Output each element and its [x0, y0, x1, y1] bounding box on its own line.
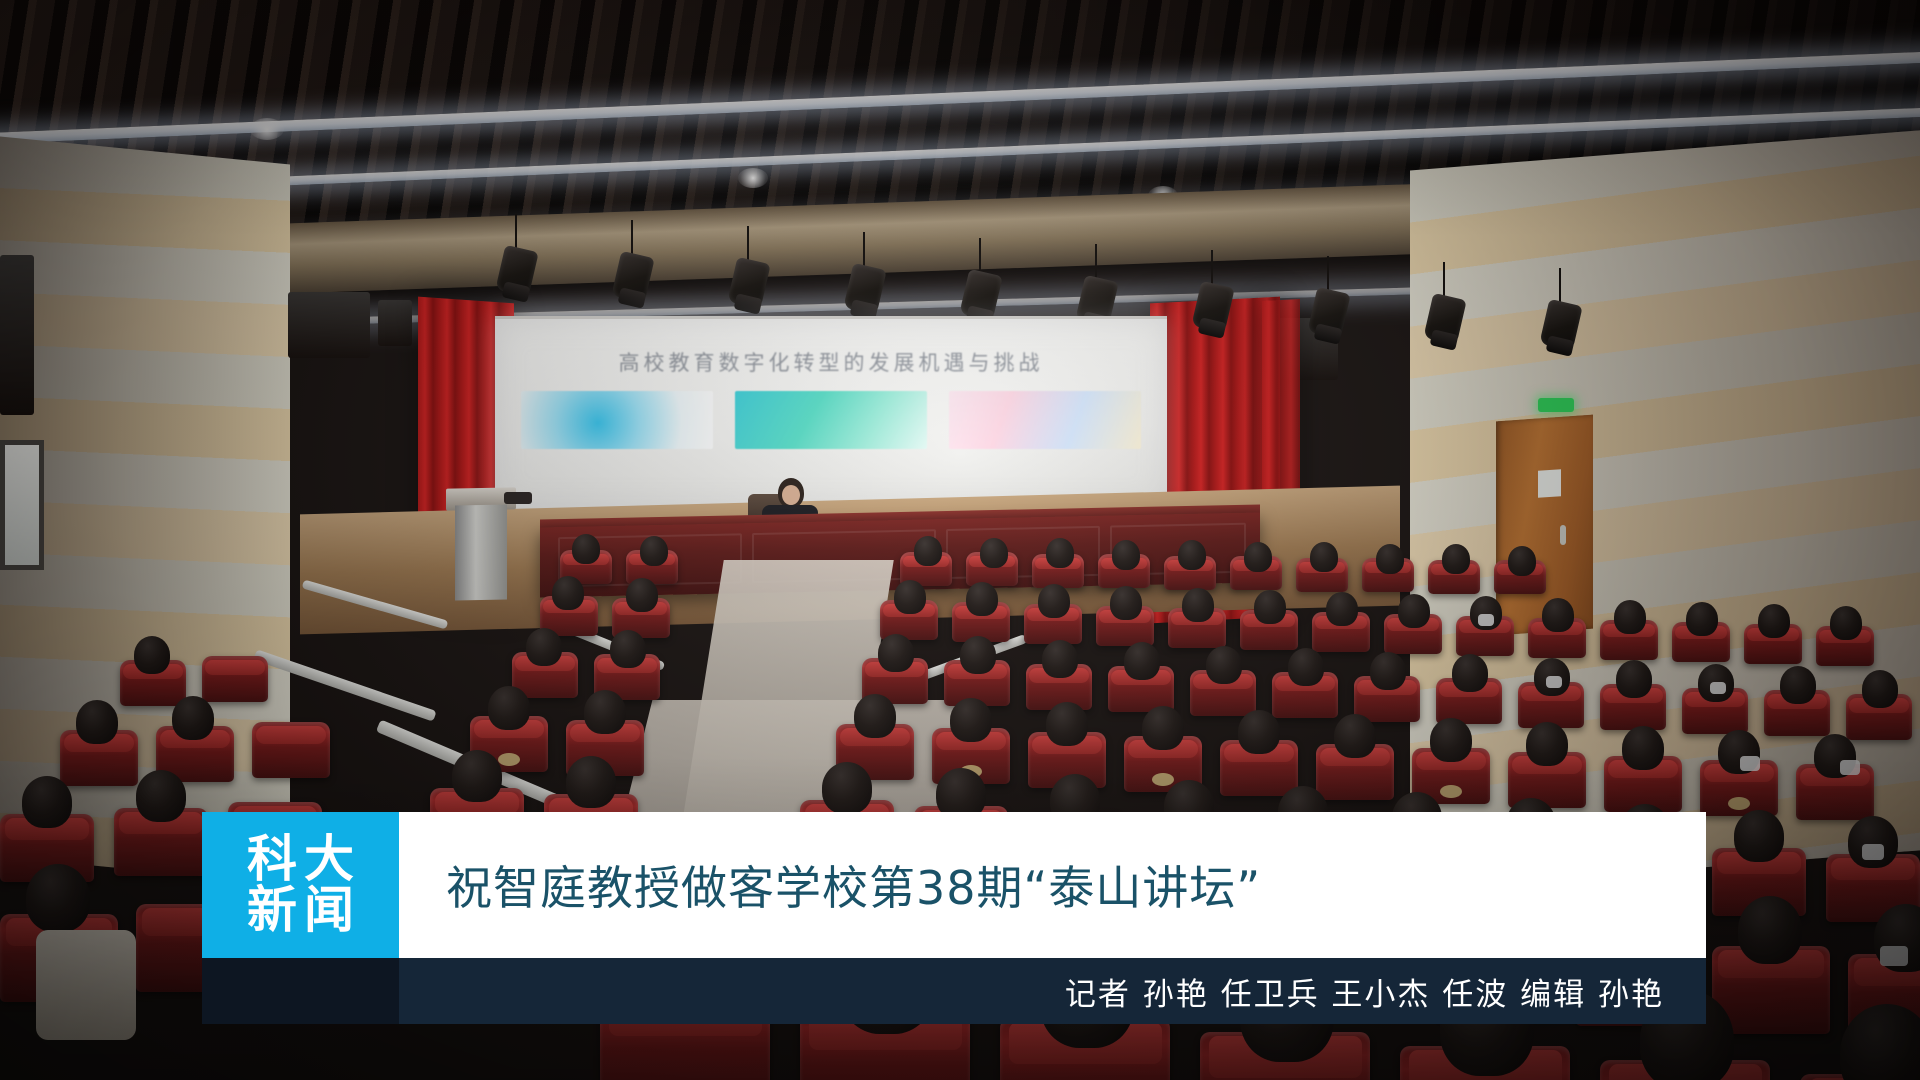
audience-head — [1334, 714, 1376, 758]
stage-light — [1544, 302, 1578, 364]
stage-light — [732, 260, 766, 322]
lower-third-banner: 科大 新闻 祝智庭教授做客学校第38期“泰山讲坛” 记者 孙艳 任卫兵 王小杰 … — [202, 812, 1706, 1024]
projection-screen-title: 高校教育数字化转型的发展机遇与挑战 — [495, 347, 1167, 377]
audience-head — [980, 538, 1008, 568]
audience-head — [488, 686, 530, 730]
lower-third-top-row: 科大 新闻 祝智庭教授做客学校第38期“泰山讲坛” — [202, 812, 1706, 958]
ceiling-downlight — [250, 118, 284, 140]
audience-head — [1622, 726, 1664, 770]
audience-head — [136, 770, 186, 822]
projection-slide-images — [521, 391, 1141, 449]
audience-head — [566, 756, 616, 808]
ceiling-downlight — [738, 168, 768, 188]
audience-head — [894, 580, 926, 614]
channel-logo: 科大 新闻 — [202, 812, 399, 958]
audience-head — [626, 578, 658, 612]
audience-head — [1614, 600, 1646, 634]
stage-light — [1196, 284, 1230, 346]
audience-head — [610, 630, 646, 668]
audience-head — [1046, 702, 1088, 746]
audience-head — [878, 634, 914, 672]
audience-head — [1254, 590, 1286, 624]
credits-bar-left-block — [202, 958, 399, 1024]
audience-head — [452, 750, 502, 802]
audience-head — [1326, 592, 1358, 626]
audience-head — [1452, 654, 1488, 692]
audience-light-jacket — [36, 930, 136, 1040]
audience-head — [26, 864, 90, 932]
slide-image-center — [735, 391, 927, 449]
audience-head — [1288, 648, 1324, 686]
face-mask — [1862, 844, 1884, 860]
audience-head — [1542, 598, 1574, 632]
face-mask — [1880, 946, 1908, 966]
audience-head — [1178, 540, 1206, 570]
face-mask — [1478, 614, 1494, 626]
lower-third-bottom-row: 记者 孙艳 任卫兵 王小杰 任波 编辑 孙艳 — [202, 958, 1706, 1024]
audience-head — [1442, 544, 1470, 574]
door-handle — [1560, 525, 1566, 545]
door-sign — [1538, 469, 1561, 498]
audience-head — [822, 762, 872, 814]
audience-head — [1124, 642, 1160, 680]
audience-head — [1862, 670, 1898, 708]
audience-head — [914, 536, 942, 566]
wall-speaker — [378, 300, 412, 346]
audience-head — [1848, 816, 1898, 868]
stage-light — [500, 248, 534, 310]
audience-head — [1616, 660, 1652, 698]
face-mask — [1546, 676, 1562, 688]
audience-head — [1738, 896, 1802, 964]
audience-head — [134, 636, 170, 674]
audience-head — [1206, 646, 1242, 684]
audience-head — [1830, 606, 1862, 640]
stage-light — [1428, 296, 1462, 358]
audience-head — [1046, 538, 1074, 568]
audience-head — [1038, 584, 1070, 618]
audience-head — [76, 700, 118, 744]
stage-light — [1312, 290, 1346, 352]
podium-mic — [504, 492, 532, 504]
audience-head — [1370, 652, 1406, 690]
speaker-face — [782, 485, 800, 505]
audience-head — [172, 696, 214, 740]
slide-image-left — [521, 391, 713, 449]
audience-head — [1142, 706, 1184, 750]
stage-light — [616, 254, 650, 316]
seat — [202, 656, 268, 702]
audience-head — [1508, 546, 1536, 576]
audience-head — [1780, 666, 1816, 704]
audience-head — [1182, 588, 1214, 622]
projection-screen: 高校教育数字化转型的发展机遇与挑战 — [495, 316, 1167, 509]
slide-image-right — [949, 391, 1141, 449]
audience-head — [552, 576, 584, 610]
video-frame: 高校教育数字化转型的发展机遇与挑战 — [0, 0, 1920, 1080]
audience-head — [1526, 722, 1568, 766]
audience-head — [966, 582, 998, 616]
audience-head — [1238, 710, 1280, 754]
audience-head — [1110, 586, 1142, 620]
audience-head — [572, 534, 600, 564]
audience-head — [1376, 544, 1404, 574]
audience-head — [960, 636, 996, 674]
credits-bar: 记者 孙艳 任卫兵 王小杰 任波 编辑 孙艳 — [399, 958, 1706, 1024]
credits-text: 记者 孙艳 任卫兵 王小杰 任波 编辑 孙艳 — [1065, 969, 1706, 1014]
channel-logo-line1: 科大 — [240, 834, 361, 885]
audience-head — [1430, 718, 1472, 762]
audience-head — [1244, 542, 1272, 572]
headline-text: 祝智庭教授做客学校第38期“泰山讲坛” — [399, 852, 1261, 918]
audience-head — [1398, 594, 1430, 628]
seat — [252, 722, 330, 778]
audience-head — [950, 698, 992, 742]
audience-head — [584, 690, 626, 734]
audience-head — [1112, 540, 1140, 570]
audience-head — [640, 536, 668, 566]
channel-logo-line2: 新闻 — [240, 885, 361, 936]
wall-speaker — [288, 292, 370, 358]
exit-sign — [1538, 398, 1574, 412]
face-mask — [1740, 756, 1760, 771]
left-window — [0, 440, 44, 570]
left-speaker-box — [0, 255, 34, 415]
audience-head — [1310, 542, 1338, 572]
audience-head — [1686, 602, 1718, 636]
audience-head — [1734, 810, 1784, 862]
face-mask — [1710, 682, 1726, 694]
audience-head — [526, 628, 562, 666]
audience-head — [854, 694, 896, 738]
audience-head — [1042, 640, 1078, 678]
audience-head — [22, 776, 72, 828]
face-mask — [1840, 760, 1860, 775]
headline-panel: 祝智庭教授做客学校第38期“泰山讲坛” — [399, 812, 1706, 958]
audience-head — [1758, 604, 1790, 638]
